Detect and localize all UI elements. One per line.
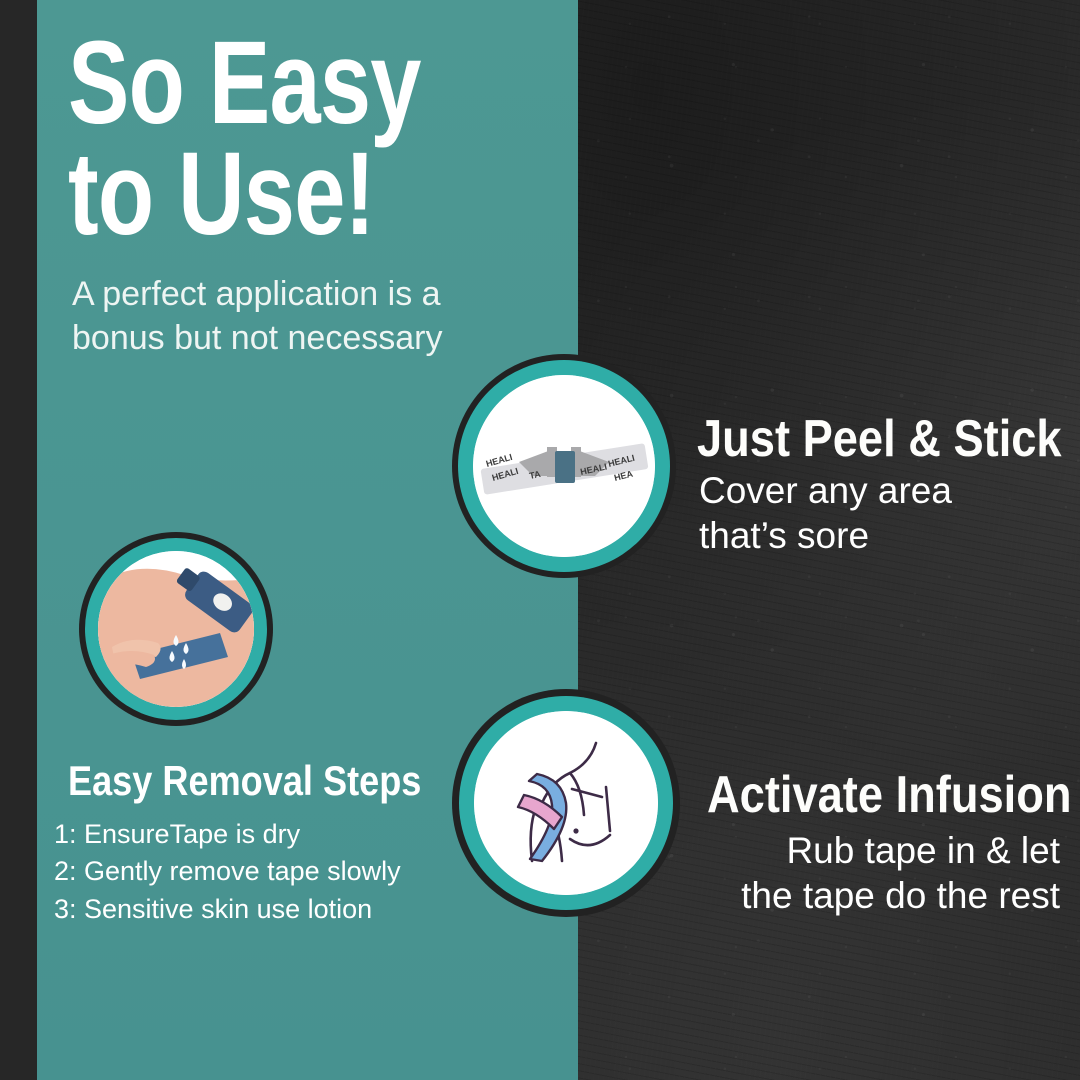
bandage-peel-icon: HEALI HEALI TA HEALI HEALI HEA xyxy=(473,375,655,557)
peel-stick-illustration: HEALI HEALI TA HEALI HEALI HEA xyxy=(452,354,676,578)
feature-body-peel-stick: Cover any area that’s sore xyxy=(699,468,952,558)
activate-infusion-illustration xyxy=(452,689,680,917)
title-line-1: So Easy xyxy=(68,28,458,139)
taped-shoulder-icon xyxy=(474,711,658,895)
title-line-2: to Use! xyxy=(68,139,458,250)
lotion-removal-icon xyxy=(98,551,254,707)
left-dark-edge xyxy=(0,0,37,1080)
feature-heading-peel-stick: Just Peel & Stick xyxy=(697,409,1062,469)
feature-body-activate-infusion: Rub tape in & let the tape do the rest xyxy=(712,828,1060,918)
list-item: 1: EnsureTape is dry xyxy=(54,816,401,853)
feature-heading-activate-infusion: Activate Infusion xyxy=(707,765,1071,825)
removal-steps-list: 1: EnsureTape is dry 2: Gently remove ta… xyxy=(54,816,401,928)
removal-illustration xyxy=(79,532,273,726)
page-title: So Easy to Use! xyxy=(68,28,568,250)
list-item: 3: Sensitive skin use lotion xyxy=(54,891,401,928)
list-item: 2: Gently remove tape slowly xyxy=(54,853,401,890)
page-subtitle: A perfect application is a bonus but not… xyxy=(72,272,542,360)
poster-canvas: So Easy to Use! A perfect application is… xyxy=(0,0,1080,1080)
removal-steps-heading: Easy Removal Steps xyxy=(68,757,421,805)
